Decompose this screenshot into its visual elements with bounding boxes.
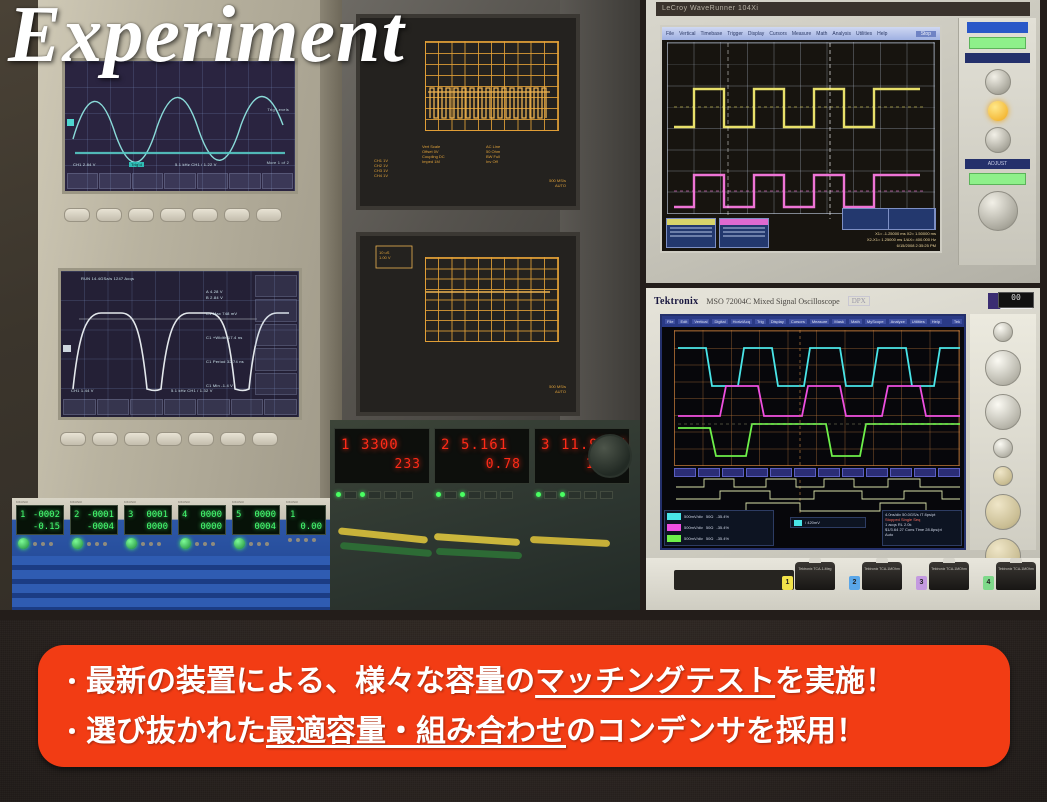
callout-line-2-pre: 選び抜かれた xyxy=(86,707,266,757)
led-1-controls[interactable] xyxy=(14,535,66,549)
tek-ch3-scale: 500mV/div xyxy=(684,536,703,541)
led-3-brand: KIKUSUI xyxy=(122,500,174,504)
led-5-value: 0000 xyxy=(254,510,276,520)
led-6-brand: KIKUSUI xyxy=(284,500,328,504)
lecroy-amber-indicator[interactable] xyxy=(988,101,1008,121)
tektronix-screen: File Edit Vertical Digital Horiz/Acq Tri… xyxy=(660,314,966,550)
photo-collage: CH1 2.84 V Trig'd 5.1 kHz CH1 / 1.22 V T… xyxy=(0,0,1047,620)
scope-tl-readout-left: CH1 2.84 V xyxy=(73,162,96,167)
led-4-controls[interactable] xyxy=(176,535,228,549)
lecroy-front-panel: ADJUST xyxy=(958,18,1036,265)
led-2-channel: 2 xyxy=(74,510,79,520)
led-1-channel: 1 xyxy=(20,510,25,520)
led-2-knob[interactable] xyxy=(72,538,83,549)
led-5-knob[interactable] xyxy=(234,538,245,549)
callout-line-2-post: のコンデンサを採用！ xyxy=(566,707,866,757)
callout-line-1-pre: 最新の装置による、様々な容量の xyxy=(86,657,535,707)
led-1-brand: KIKUSUI xyxy=(14,500,66,504)
lecroy-meas-row xyxy=(842,208,936,230)
scope-tl-readout-right: 5.1 kHz CH1 / 1.22 V xyxy=(175,162,217,167)
lecroy-blue-button[interactable] xyxy=(967,22,1028,33)
scope-tl-softkeys[interactable] xyxy=(67,173,293,189)
scope-tl-pages: More 1 of 2 xyxy=(267,160,289,165)
tektronix-probe-row: 1 Tektronix TCA-1-Meg 2 Tektronix TCA-1M… xyxy=(782,562,1036,590)
cable-green-2 xyxy=(436,548,522,559)
crt-bottom-footer: 500 MS/s AUTO xyxy=(549,384,566,394)
led-3-value2: 0000 xyxy=(146,522,168,532)
psu-1-channel: 1 xyxy=(341,437,349,453)
callout-line-1-post: を実施！ xyxy=(775,657,895,707)
tek-probe-1-body[interactable]: Tektronix TCA-1-Meg xyxy=(795,562,835,590)
tek-badge-row-2: 500mV/div 50Ω -35.4% xyxy=(665,522,773,533)
lecroy-adjust-label-bar: ADJUST xyxy=(965,159,1030,169)
tektronix-trigger-badge: / 420mV xyxy=(790,517,866,528)
led-3-value: 0001 xyxy=(146,510,168,520)
psu-1-current: 233 xyxy=(395,457,421,472)
tek-probe-1-number: 1 xyxy=(782,576,793,590)
led-1-knob[interactable] xyxy=(18,538,29,549)
lecroy-measurement-panel: X1= -1.25000 ms X2= 1.50000 ms X2-X1= 1.… xyxy=(842,208,936,248)
tek-ch1-imped: 50Ω xyxy=(706,514,713,519)
callout-box: ・ 最新の装置による、様々な容量の マッチングテスト を実施！ ・ 選び抜かれた… xyxy=(38,645,1010,767)
tek-ch2-swatch xyxy=(667,524,681,531)
cable-yellow-2 xyxy=(434,533,520,546)
callout-bullet-1: ・ xyxy=(60,657,86,707)
led-2-screen: 2 -0001 -0004 xyxy=(70,505,118,535)
scope-ml-softkeys[interactable] xyxy=(63,399,297,415)
photo-gap-bottom xyxy=(0,610,1047,620)
lecroy-adjust-knob[interactable] xyxy=(978,191,1018,231)
psu-2-channel: 2 xyxy=(441,437,449,453)
tek-ch1-scale: 500mV/div xyxy=(684,514,703,519)
led-1-screen: 1 -0002 -0.15 xyxy=(16,505,64,535)
led-1-value2: -0.15 xyxy=(33,522,60,532)
led-3-channel: 3 xyxy=(128,510,133,520)
tektronix-bus-decode xyxy=(674,468,960,477)
led-6-screen: 1 0.00 xyxy=(286,505,326,535)
tek-ch2-scale: 500mV/div xyxy=(684,525,703,530)
psu-1-voltage: 3300 xyxy=(361,437,399,453)
led-3-screen: 3 0001 0000 xyxy=(124,505,172,535)
tektronix-model-label: MSO 72004C Mixed Signal Oscilloscope xyxy=(706,297,839,306)
lecroy-green-button[interactable] xyxy=(969,37,1026,49)
tek-probe-2-number: 2 xyxy=(849,576,860,590)
scope-ml-cursor-a: A 4.28 V xyxy=(206,289,223,294)
tek-probe-3-body[interactable]: Tektronix TCA-1MOhm xyxy=(929,562,969,590)
lecroy-small-knob[interactable] xyxy=(985,69,1011,95)
led-2-controls[interactable] xyxy=(68,535,120,549)
psu-3-channel: 3 xyxy=(541,437,549,453)
page-title: Experiment xyxy=(8,0,405,81)
lecroy-c2-badge xyxy=(719,218,769,248)
psu-3-led xyxy=(536,492,541,497)
led-4-brand: KIKUSUI xyxy=(176,500,228,504)
crt-top-labels-left: CH1 1V CH2 1V CH3 1V CH4 1V xyxy=(374,158,388,178)
tek-probe-4[interactable]: 4 Tektronix TCA-1MOhm xyxy=(983,562,1036,590)
lecroy-c1-badge xyxy=(666,218,716,248)
led-6-value2: 0.00 xyxy=(300,522,322,532)
tek-probe-1[interactable]: 1 Tektronix TCA-1-Meg xyxy=(782,562,835,590)
tek-badge-row-1: 500mV/div 50Ω -35.4% xyxy=(665,511,773,522)
scope-ml-button-row[interactable] xyxy=(60,432,278,446)
led-2-value2: -0004 xyxy=(87,522,114,532)
tek-trig-label: / 420mV xyxy=(805,520,820,525)
photo-lecroy-scope: LeCroy WaveRunner 104Xi File Vertical Ti… xyxy=(646,0,1040,283)
tektronix-front-panel xyxy=(970,314,1036,550)
cable-yellow-3 xyxy=(530,536,610,547)
tek-knob-horizontal-scale[interactable] xyxy=(985,394,1021,430)
psu-rotary-knob[interactable] xyxy=(588,434,632,478)
psu-2-buttons[interactable] xyxy=(436,490,513,499)
lecroy-screen: File Vertical Timebase Trigger Display C… xyxy=(660,25,942,253)
tek-ch3-imped: 50Ω xyxy=(706,536,713,541)
tek-knob-multipurpose-a[interactable] xyxy=(985,494,1021,530)
led-module-1: KIKUSUI 1 -0002 -0.15 xyxy=(14,500,66,548)
led-5-channel: 5 xyxy=(236,510,241,520)
led-5-brand: KIKUSUI xyxy=(230,500,282,504)
scope-ml-footer-left: CH1 1.44 V xyxy=(71,388,94,393)
scope-ml-side-menu[interactable] xyxy=(255,275,297,395)
led-5-value2: 0004 xyxy=(254,522,276,532)
led-5-controls[interactable] xyxy=(230,535,282,549)
led-5-screen: 5 0000 0004 xyxy=(232,505,280,535)
tek-probe-3-label: Tektronix TCA-1MOhm xyxy=(929,567,969,571)
tek-probe-4-number: 4 xyxy=(983,576,994,590)
led-module-3: KIKUSUI 3 0001 0000 xyxy=(122,500,174,548)
psu-1-buttons[interactable] xyxy=(336,490,413,499)
led-module-4: KIKUSUI 4 0000 0000 xyxy=(176,500,228,548)
scope-ml-meas-3: C1 Period 32.74 ns xyxy=(206,359,244,364)
callout-line-2: ・ 選び抜かれた 最適容量・組み合わせ のコンデンサを採用！ xyxy=(60,707,992,757)
rack-blue-panels xyxy=(12,556,330,615)
tek-ch3-extra: -35.4% xyxy=(716,536,729,541)
tek-probe-1-label: Tektronix TCA-1-Meg xyxy=(795,567,835,571)
scope-tl-button-row[interactable] xyxy=(64,208,282,222)
tektronix-bottom-bay: 1 Tektronix TCA-1-Meg 2 Tektronix TCA-1M… xyxy=(646,558,1040,610)
led-4-screen: 4 0000 0000 xyxy=(178,505,226,535)
lecroy-channel-badges xyxy=(666,218,769,248)
led-1-value: -0002 xyxy=(33,510,60,520)
tek-knob-offset[interactable] xyxy=(993,438,1013,458)
photo-tektronix-scope: Tektronix MSO 72004C Mixed Signal Oscill… xyxy=(646,288,1040,610)
led-module-6: KIKUSUI 1 0.00 xyxy=(284,500,328,548)
tek-ch3-swatch xyxy=(667,535,681,542)
tek-ch1-swatch xyxy=(667,513,681,520)
crt-top-footer: 500 MS/s AUTO xyxy=(549,178,566,188)
crt-bottom-trace xyxy=(360,236,576,412)
scope-ml-meas-2: C1 +Width 17.4 ns xyxy=(206,335,242,340)
tektronix-brand-bar: Tektronix MSO 72004C Mixed Signal Oscill… xyxy=(654,292,1032,310)
scope-tl-trig-badge: Trig'd xyxy=(129,162,144,167)
scope-ml-footer-right: 5.1 kHz CH1 / 1.32 V xyxy=(171,388,213,393)
tektronix-channel-badges: 500mV/div 50Ω -35.4% 500mV/div 50Ω -35.4… xyxy=(664,510,774,546)
lecroy-adjust-label: ADJUST xyxy=(988,161,1007,167)
tek-knob-vertical-position[interactable] xyxy=(993,322,1013,342)
psu-module-1: 1 3300 233 xyxy=(334,428,430,484)
cable-green-1 xyxy=(340,542,432,557)
crt-bottom-badge: 10 uS 1.00 V xyxy=(379,250,391,260)
callout-line-1-underlined: マッチングテスト xyxy=(535,657,775,707)
photo-gap-right xyxy=(1040,0,1047,620)
lecroy-small-knob-2[interactable] xyxy=(985,127,1011,153)
crt-monitor-bottom: 10 uS 1.00 V 500 MS/s AUTO xyxy=(356,232,580,416)
crt-top-labels-mid: Vert Scale Offset 0V Coupling DC Imped 1… xyxy=(422,144,445,164)
scope-tl-menu-label: Trig Levels xyxy=(267,107,289,112)
psu-module-2: 2 5.161 0.78 xyxy=(434,428,530,484)
led-2-value: -0001 xyxy=(87,510,114,520)
tektronix-front-display: 00 xyxy=(998,292,1034,308)
psu-1-led xyxy=(336,492,341,497)
crt-top-labels-right: AC Line 50 Ohm BW Full Inv Off xyxy=(486,144,500,164)
tek-probe-4-body[interactable]: Tektronix TCA-1MOhm xyxy=(996,562,1036,590)
psu-3-buttons[interactable] xyxy=(536,490,613,499)
tek-ch1-extra: -35.4% xyxy=(716,514,729,519)
scope-screen-mid-left: RUN 14.4GSa/s 1247 Acqs A 4.28 V B 2.84 … xyxy=(58,268,302,420)
lecroy-green-indicator xyxy=(969,173,1026,185)
callout-line-1: ・ 最新の装置による、様々な容量の マッチングテスト を実施！ xyxy=(60,657,992,707)
scope-ml-meas-1: C1 Max 748 mV xyxy=(206,311,237,316)
tek-ch2-extra: -35.4% xyxy=(716,525,729,530)
callout-line-2-underlined: 最適容量・組み合わせ xyxy=(266,707,566,757)
led-4-value2: 0000 xyxy=(200,522,222,532)
led-3-controls[interactable] xyxy=(122,535,174,549)
tektronix-status-panel: 4.0ns/div 50.0GS/s IT 8ps/pt Stopped Sin… xyxy=(882,510,962,546)
photo-lab-bench: CH1 2.84 V Trig'd 5.1 kHz CH1 / 1.22 V T… xyxy=(0,0,640,615)
tek-probe-3-number: 3 xyxy=(916,576,927,590)
psu-2-led xyxy=(436,492,441,497)
cable-yellow-1 xyxy=(338,527,428,543)
tek-knob-vertical-scale[interactable] xyxy=(985,350,1021,386)
lecroy-readout-3: 6/15/2008 2:35:25 PM xyxy=(842,242,936,248)
led-6-controls[interactable] xyxy=(284,535,328,542)
tek-knob-resolution[interactable] xyxy=(993,466,1013,486)
led-3-knob[interactable] xyxy=(126,538,137,549)
tek-probe-2-label: Tektronix TCA-1MOhm xyxy=(862,567,902,571)
scope-ml-header: RUN 14.4GSa/s 1247 Acqs xyxy=(81,276,134,281)
led-4-knob[interactable] xyxy=(180,538,191,549)
tektronix-media-slot xyxy=(674,570,794,590)
psu-2-voltage: 5.161 xyxy=(461,437,508,453)
led-4-channel: 4 xyxy=(182,510,187,520)
lecroy-brand-label: LeCroy WaveRunner 104Xi xyxy=(656,2,1030,16)
tektronix-logo: Tektronix xyxy=(654,296,698,307)
led-module-5: KIKUSUI 5 0000 0004 xyxy=(230,500,282,548)
led-2-brand: KIKUSUI xyxy=(68,500,120,504)
tek-trig-swatch xyxy=(794,520,802,526)
tek-probe-2[interactable]: 2 Tektronix TCA-1MOhm xyxy=(849,562,902,590)
tek-ch2-imped: 50Ω xyxy=(706,525,713,530)
lecroy-blue-bar xyxy=(965,53,1030,63)
led-4-value: 0000 xyxy=(200,510,222,520)
tek-badge-row-3: 500mV/div 50Ω -35.4% xyxy=(665,533,773,544)
led-instrument-rack: KIKUSUI 1 -0002 -0.15 KIKUSUI 2 -0001 -0… xyxy=(12,498,330,615)
callout-bullet-2: ・ xyxy=(60,707,86,757)
tektronix-dpx-badge: DPX xyxy=(848,296,870,306)
psu-rack: 1 3300 233 2 5.161 0.78 3 11.9904 1.79 xyxy=(330,420,640,615)
led-6-channel: 1 xyxy=(290,510,295,520)
psu-2-current: 0.78 xyxy=(486,457,521,472)
tek-probe-2-body[interactable]: Tektronix TCA-1MOhm xyxy=(862,562,902,590)
led-module-2: KIKUSUI 2 -0001 -0004 xyxy=(68,500,120,548)
tek-probe-3[interactable]: 3 Tektronix TCA-1MOhm xyxy=(916,562,969,590)
tek-status-5: Auto xyxy=(885,532,959,537)
tek-probe-4-label: Tektronix TCA-1MOhm xyxy=(996,567,1036,571)
scope-ml-cursor-b: B 2.84 V xyxy=(206,295,223,300)
